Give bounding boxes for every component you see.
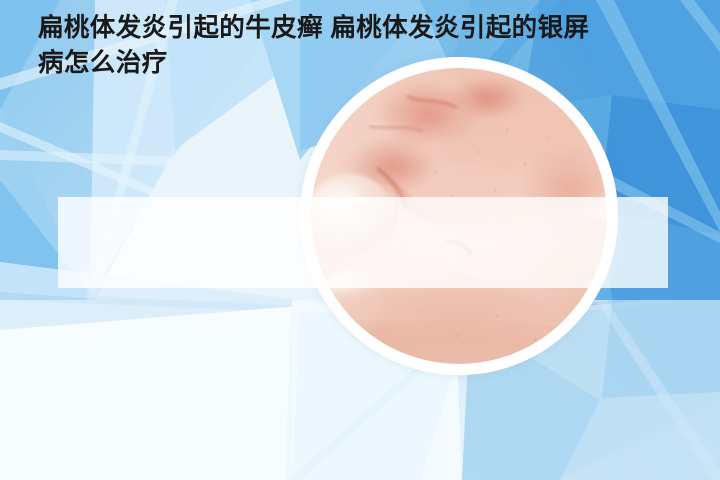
title-panel [58,197,668,288]
banner-canvas: 扁桃体发炎引起的牛皮癣 扁桃体发炎引起的银屏病怎么治疗 [0,0,720,480]
page-title: 扁桃体发炎引起的牛皮癣 扁桃体发炎引起的银屏病怎么治疗 [38,11,598,81]
